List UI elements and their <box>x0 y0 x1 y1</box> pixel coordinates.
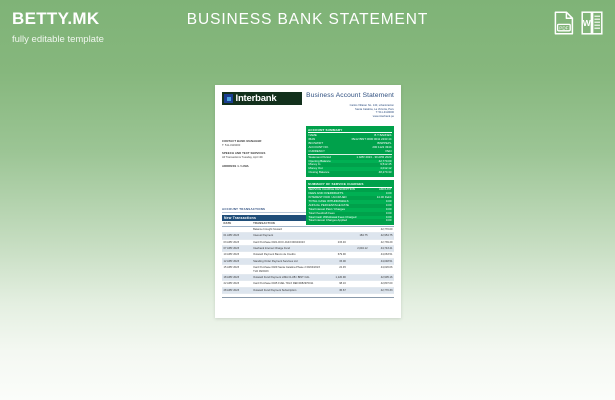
cell-description: Outward Fund Payment Subscription <box>252 287 323 293</box>
contact-line: All Transactions Tuesday, April 4th <box>222 156 296 160</box>
table-row: 28 APR 2023 Outward Fund Payment Subscri… <box>222 287 394 293</box>
cell-date: 28 APR 2023 <box>222 287 252 293</box>
cell-balance: 42,770.33 <box>369 287 394 293</box>
service-charges-box: SUMMARY OF SERVICE CHARGES SERVICE CHARG… <box>306 180 394 225</box>
contact-heading: ADDRESS 1 / LIMA <box>222 165 296 169</box>
balance-row: Closing Balance 48,270.33 <box>308 171 392 175</box>
bank-address-line: www.interbank.pe <box>350 115 394 119</box>
pdf-file-icon[interactable]: PDF <box>554 11 574 35</box>
word-file-icon[interactable]: W <box>581 11 603 35</box>
svg-text:PDF: PDF <box>559 25 568 30</box>
document-header: Interbank Business Account Statement Car… <box>222 91 394 125</box>
cell-date: 15 APR 2023 <box>222 265 252 275</box>
contact-block: SPEECH AND TEXT SERVICES All Transaction… <box>222 152 296 159</box>
table-row: 15 APR 2023 Card Purchase 0029 Santa Cat… <box>222 265 394 275</box>
account-summary-box: ACCOUNT SUMMARY NAME B T BARNES IBAN PE1… <box>306 126 394 177</box>
charge-value: 0.00 <box>386 219 392 223</box>
cell-debit <box>347 265 369 275</box>
cell-balance: 44,026.06 <box>369 265 394 275</box>
cell-description: Card Purchase 0029 Santa Catalina Phase … <box>252 265 323 275</box>
statement-document-preview[interactable]: Interbank Business Account Statement Car… <box>215 85 401 318</box>
brand-tagline: fully editable template <box>12 34 104 46</box>
table-closing-rule <box>222 297 394 298</box>
summary-value: PEN <box>386 150 392 154</box>
page-banner: BETTY.MK fully editable template BUSINES… <box>0 0 615 56</box>
transactions-table: DATE TRANSACTION AMOUNT IN DEBITS BALANC… <box>222 221 394 295</box>
interbank-logo-mark-icon <box>224 94 233 103</box>
balance-key: Closing Balance <box>309 171 330 175</box>
summary-area: CONTACT BANK MANAGER T: 511-3119000 SPEE… <box>222 126 394 204</box>
interbank-logo-text: Interbank <box>236 94 277 104</box>
summary-row: CURRENCY PEN <box>308 150 392 154</box>
banner-title: BUSINESS BANK STATEMENT <box>0 11 615 29</box>
file-format-icons: PDF W <box>554 11 603 35</box>
contact-block: ADDRESS 1 / LIMA <box>222 165 296 169</box>
svg-text:W: W <box>583 18 592 28</box>
interbank-logo: Interbank <box>222 92 302 105</box>
contact-info-column: CONTACT BANK MANAGER T: 511-3119000 SPEE… <box>222 140 296 173</box>
cell-debit <box>347 287 369 293</box>
bank-address: Carlos Villaran No. 140, urbanizacion Sa… <box>350 104 394 118</box>
charge-key: Total Interest Charges Applied <box>309 219 348 223</box>
balance-value: 48,270.33 <box>379 171 392 175</box>
document-title: Business Account Statement <box>306 92 394 99</box>
cell-amount: 36.67 <box>322 287 347 293</box>
summary-boxes-column: ACCOUNT SUMMARY NAME B T BARNES IBAN PE1… <box>306 126 394 225</box>
contact-line: T: 511-3119000 <box>222 144 296 148</box>
cell-amount: 22.45 <box>322 265 347 275</box>
charge-row: Total Interest Charges Applied 0.00 <box>308 219 392 223</box>
contact-block: CONTACT BANK MANAGER T: 511-3119000 <box>222 140 296 147</box>
summary-key: CURRENCY <box>309 150 325 154</box>
